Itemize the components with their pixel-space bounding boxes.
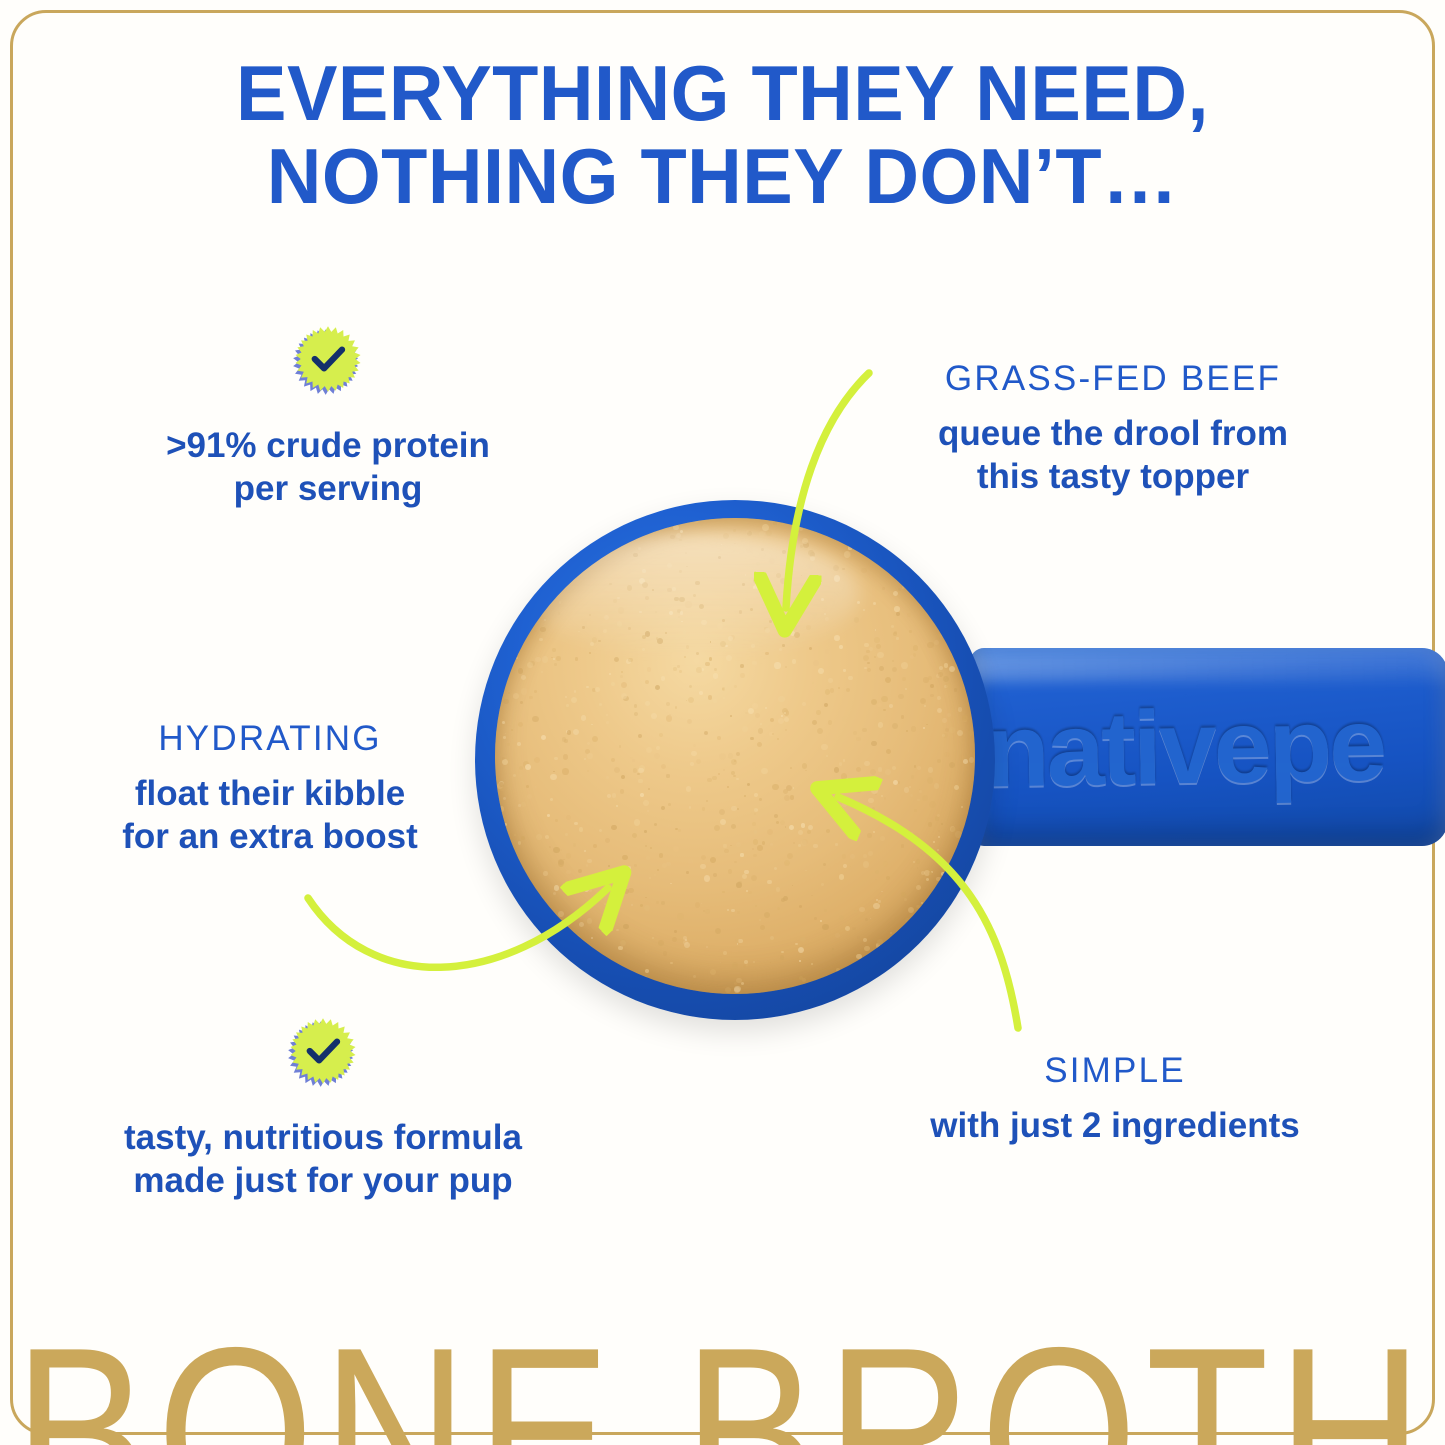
powder-highlight (524, 532, 860, 656)
callout-hydrating-body: float their kibble for an extra boost (50, 772, 490, 858)
page-title-line-1: EVERYTHING THEY NEED, (22, 52, 1424, 135)
callout-protein: >91% crude protein per serving (108, 320, 548, 510)
page-title-line-2: NOTHING THEY DON’T… (22, 135, 1424, 218)
callout-simple: SIMPLE with just 2 ingredients (900, 1050, 1330, 1147)
callout-hydrating-line-2: for an extra boost (50, 815, 490, 858)
callout-simple-heading: SIMPLE (900, 1050, 1330, 1092)
callout-tasty-body: tasty, nutritious formula made just for … (88, 1116, 558, 1202)
callout-hydrating: HYDRATING float their kibble for an extr… (50, 718, 490, 858)
scoop-cup (475, 500, 995, 1020)
callout-protein-line-1: >91% crude protein (108, 424, 548, 467)
callout-protein-body: >91% crude protein per serving (108, 424, 548, 510)
brand-emboss-text: nativepe (985, 693, 1385, 804)
check-badge-icon (289, 320, 367, 398)
page-title: EVERYTHING THEY NEED, NOTHING THEY DON’T… (22, 52, 1424, 219)
callout-beef-line-1: queue the drool from (888, 412, 1338, 455)
callout-beef-heading: GRASS-FED BEEF (888, 358, 1338, 400)
callout-hydrating-line-1: float their kibble (50, 772, 490, 815)
infographic-card: EVERYTHING THEY NEED, NOTHING THEY DON’T… (0, 0, 1445, 1445)
product-wordmark: BONE BROTH (0, 1312, 1445, 1445)
callout-protein-line-2: per serving (108, 467, 548, 510)
callout-hydrating-heading: HYDRATING (50, 718, 490, 760)
callout-tasty-line-1: tasty, nutritious formula (88, 1116, 558, 1159)
callout-tasty: tasty, nutritious formula made just for … (88, 1012, 558, 1202)
callout-simple-body: with just 2 ingredients (900, 1104, 1330, 1147)
callout-simple-line-1: with just 2 ingredients (900, 1104, 1330, 1147)
callout-tasty-line-2: made just for your pup (88, 1159, 558, 1202)
callout-beef-body: queue the drool from this tasty topper (888, 412, 1338, 498)
scoop-powder (495, 518, 975, 994)
callout-beef-line-2: this tasty topper (888, 455, 1338, 498)
scoop-handle: nativepe (970, 648, 1445, 846)
callout-grass-fed-beef: GRASS-FED BEEF queue the drool from this… (888, 358, 1338, 498)
check-badge-icon (284, 1012, 362, 1090)
product-scoop-image: nativepe (430, 480, 1445, 1060)
